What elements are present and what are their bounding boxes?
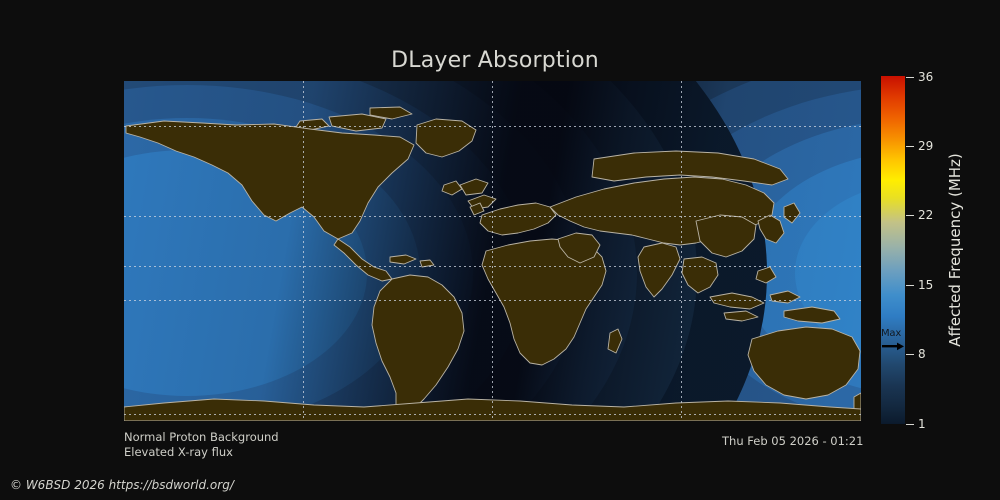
xray-status-text: Elevated X-ray flux	[124, 445, 233, 459]
proton-status-text: Normal Proton Background	[124, 430, 279, 444]
colorbar-tick-label: 15	[918, 278, 933, 292]
colorbar-tick-label: 36	[918, 70, 933, 84]
arrow-right-icon	[882, 342, 904, 351]
colorbar-tick	[906, 424, 914, 425]
colorbar-tick-label: 22	[918, 208, 933, 222]
colorbar-max-marker: Max	[881, 328, 907, 354]
footer-credit: © W6BSD 2026 https://bsdworld.org/	[10, 478, 234, 492]
colorbar-max-label: Max	[881, 328, 901, 339]
page-title: DLayer Absorption	[0, 48, 990, 73]
colorbar-axis-title-text: Affected Frequency (MHz)	[946, 153, 964, 347]
colorbar-tick	[906, 215, 914, 216]
colorbar-tick-label: 8	[918, 347, 926, 361]
colorbar-tick	[906, 354, 914, 355]
world-map-panel	[124, 81, 861, 421]
colorbar-axis-title: Affected Frequency (MHz)	[944, 76, 966, 424]
colorbar-tick-label: 1	[918, 417, 926, 431]
dlayer-absorption-map-page: DLayer Absorption	[0, 0, 1000, 500]
colorbar-tick-label: 29	[918, 139, 933, 153]
colorbar-tick	[906, 77, 914, 78]
colorbar-tick	[906, 146, 914, 147]
timestamp-label: Thu Feb 05 2026 - 01:21	[722, 434, 863, 448]
continents-layer	[124, 81, 861, 421]
colorbar-gradient	[881, 76, 905, 424]
colorbar-tick	[906, 285, 914, 286]
